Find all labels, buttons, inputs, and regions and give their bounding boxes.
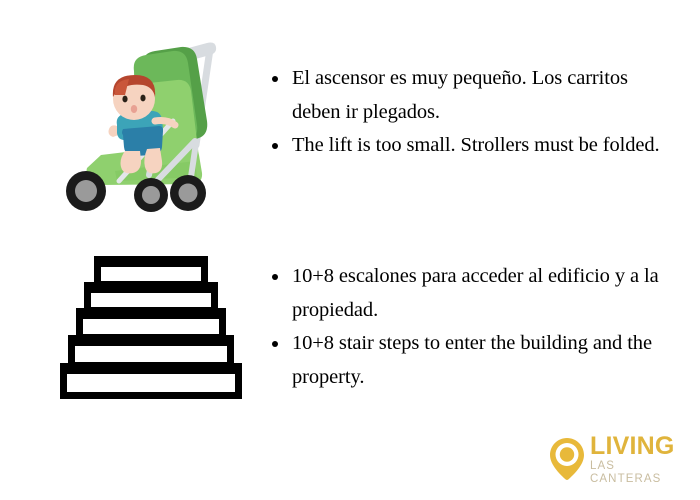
logo-primary-text: LIVING	[590, 434, 688, 459]
stair-steps-text: 10+8 escalones para acceder al edificio …	[266, 260, 666, 394]
info-card-page: El ascensor es muy pequeño. Los carritos…	[0, 0, 700, 500]
stroller-illustration	[55, 25, 240, 215]
brand-logo: LIVING LAS CANTERAS	[548, 432, 688, 486]
stairs-illustration	[60, 255, 242, 407]
list-item: 10+8 stair steps to enter the building a…	[266, 327, 666, 394]
lift-stroller-bullet-list: El ascensor es muy pequeño. Los carritos…	[266, 62, 666, 163]
logo-wordmark: LIVING LAS CANTERAS	[590, 432, 688, 486]
lift-stroller-text: El ascensor es muy pequeño. Los carritos…	[266, 62, 666, 163]
list-item: 10+8 escalones para acceder al edificio …	[266, 260, 666, 327]
list-item: El ascensor es muy pequeño. Los carritos…	[266, 62, 666, 129]
stair-steps-bullet-list: 10+8 escalones para acceder al edificio …	[266, 260, 666, 394]
list-item: The lift is too small. Strollers must be…	[266, 129, 666, 163]
map-pin-icon	[548, 436, 586, 482]
logo-secondary-text: LAS CANTERAS	[590, 460, 688, 486]
